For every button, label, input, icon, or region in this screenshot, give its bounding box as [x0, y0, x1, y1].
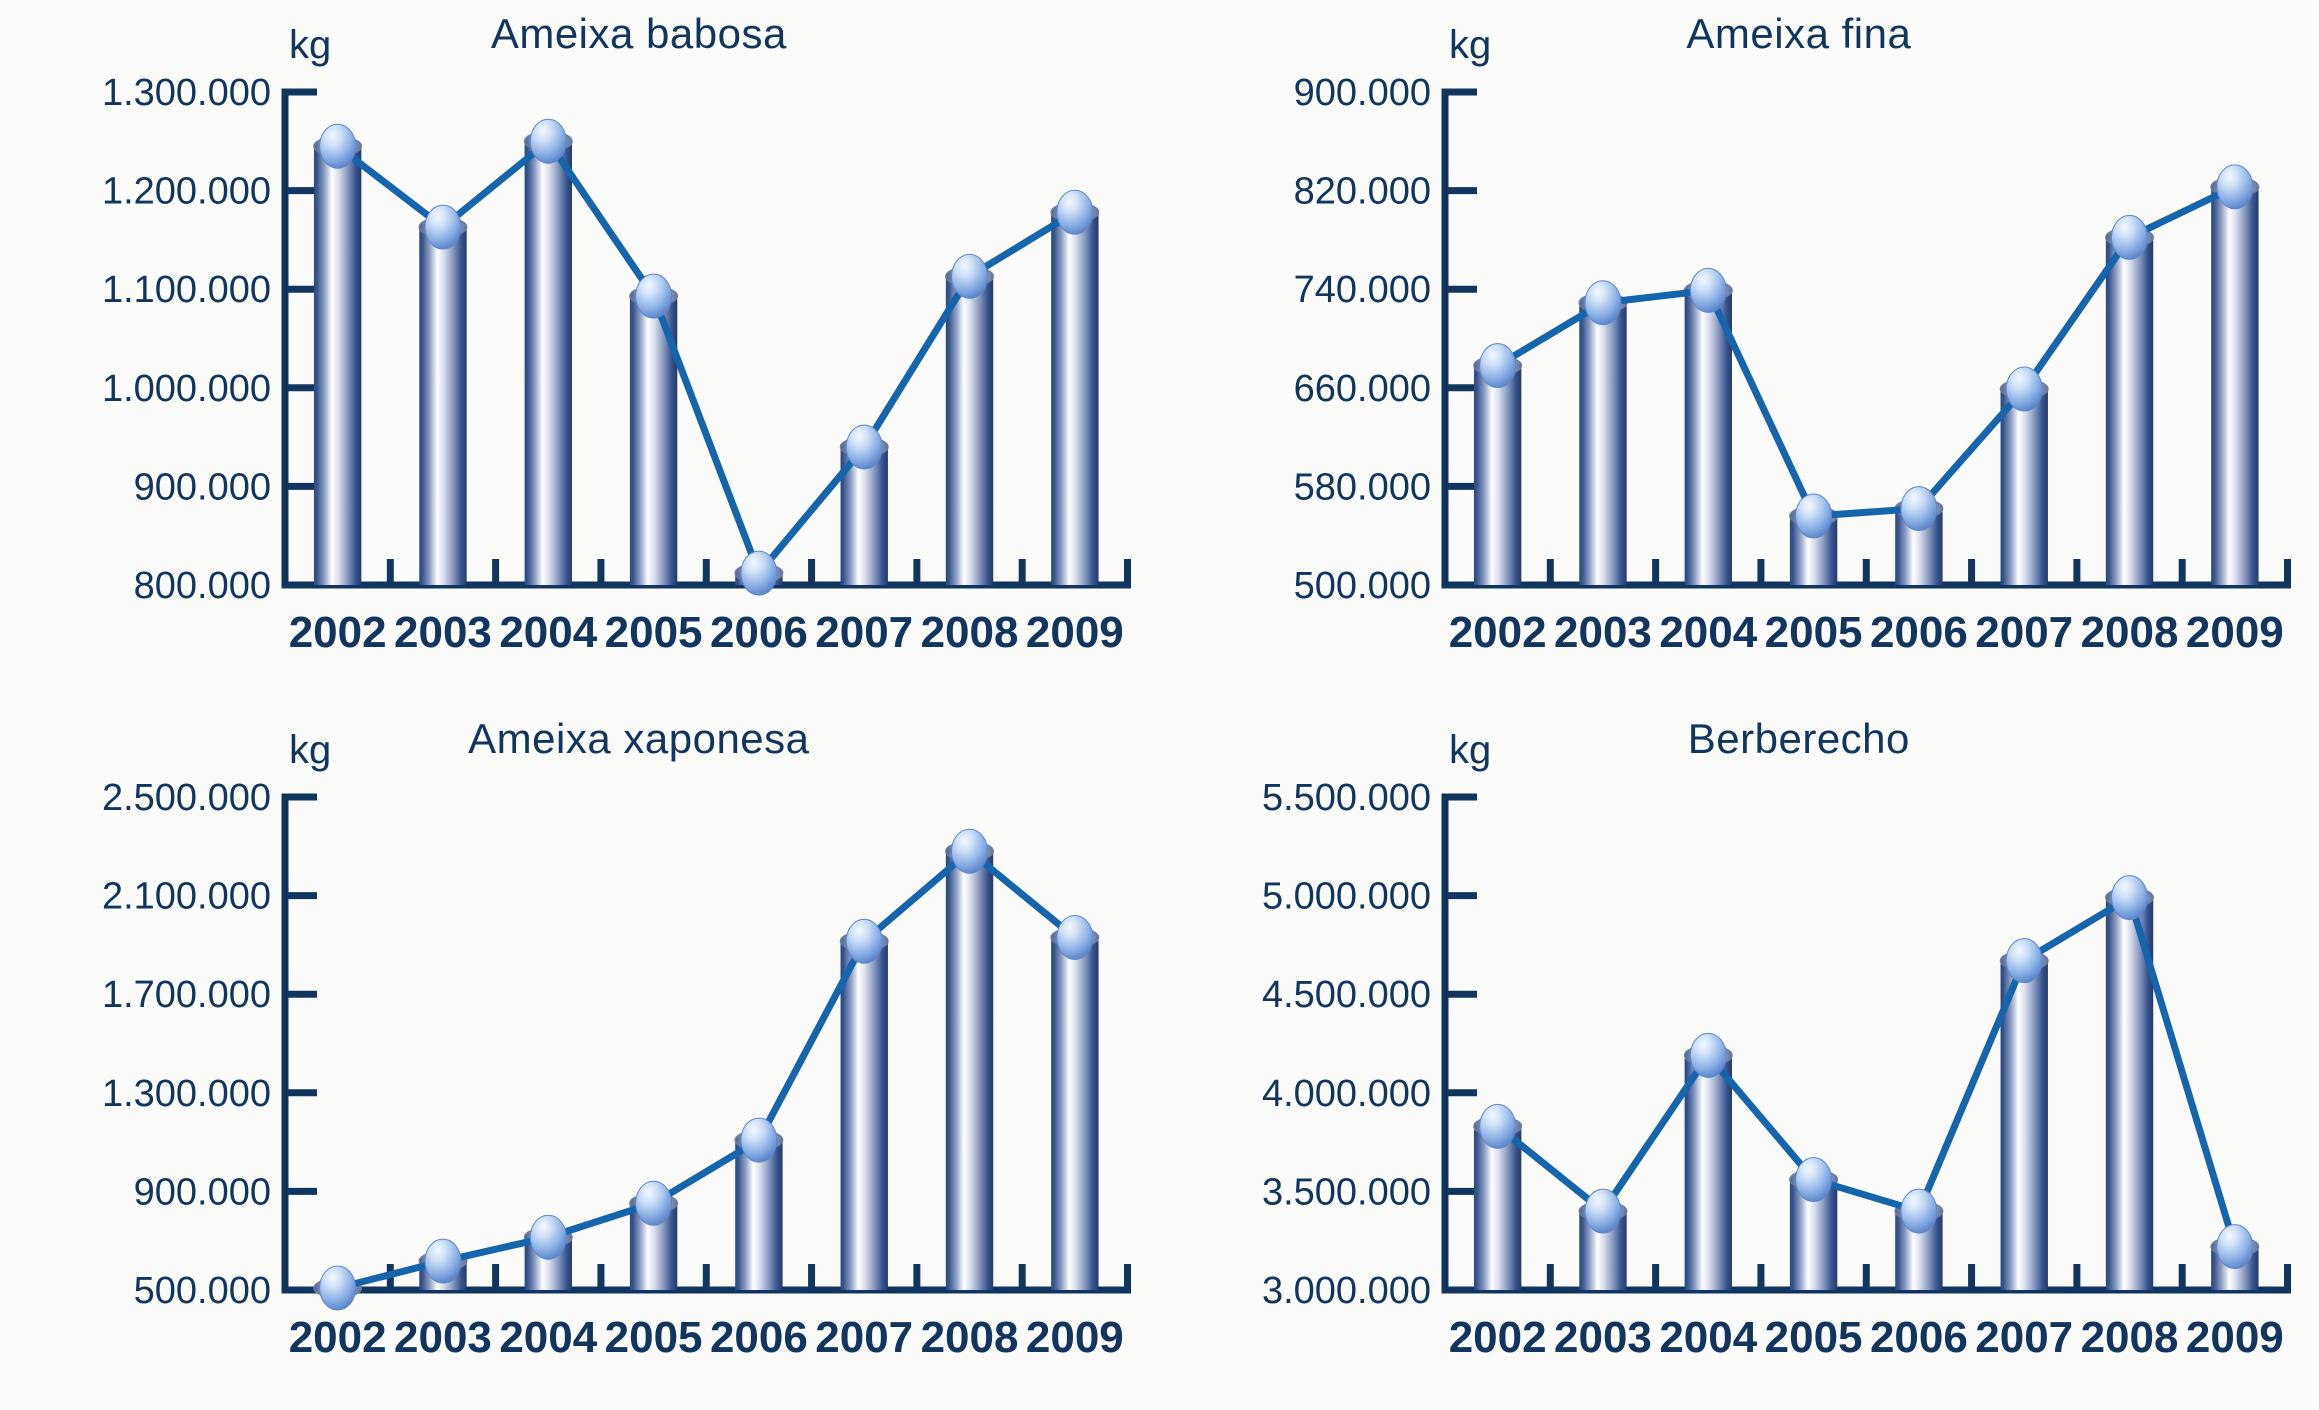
bar-cylinder [525, 132, 572, 585]
y-tick-label: 580.000 [1293, 466, 1430, 508]
bar-cylinder [2211, 177, 2258, 585]
x-tick-label: 2007 [815, 1313, 913, 1362]
chart-canvas-ameixa-babosa: Ameixa babosakg1.300.0001.200.0001.100.0… [0, 0, 1160, 705]
data-point-marker [1795, 1158, 1831, 1202]
data-point-marker [1584, 281, 1620, 325]
data-point-marker [741, 551, 777, 595]
bar-cylinder [1473, 356, 1520, 585]
x-tick-label: 2005 [1764, 608, 1862, 657]
y-tick-label: 800.000 [134, 565, 271, 607]
bar-cylinder [1051, 203, 1098, 585]
x-tick-label: 2006 [710, 608, 808, 657]
y-tick-label: 900.000 [134, 466, 271, 508]
data-point-marker [952, 829, 988, 873]
data-point-marker [1900, 1189, 1936, 1233]
bar-cylinder [419, 218, 466, 585]
y-tick-label: 5.000.000 [1261, 876, 1430, 918]
y-tick-label: 1.300.000 [102, 72, 271, 114]
x-tick-label: 2005 [605, 1313, 703, 1362]
chart-axes [285, 92, 1128, 585]
y-tick-label: 500.000 [134, 1270, 271, 1312]
y-axis-ticks: 900.000820.000740.000660.000580.000500.0… [1293, 72, 1476, 607]
bar-series [314, 842, 1099, 1298]
y-tick-label: 2.100.000 [102, 876, 271, 918]
x-tick-label: 2007 [815, 608, 913, 657]
data-point-marker [1057, 190, 1093, 234]
x-tick-label: 2006 [1869, 1313, 1967, 1362]
data-point-marker [425, 1239, 461, 1283]
x-tick-label: 2002 [289, 608, 387, 657]
y-tick-label: 3.500.000 [1261, 1171, 1430, 1213]
x-axis-ticks [1445, 1264, 2288, 1290]
y-tick-label: 2.500.000 [102, 777, 271, 819]
chart-panel-berberecho: Berberechokg5.500.0005.000.0004.500.0004… [1160, 705, 2319, 1410]
x-axis-labels: 20022003200420052006200720082009 [289, 1313, 1124, 1362]
data-point-marker [2111, 876, 2147, 920]
data-point-marker [530, 119, 566, 163]
x-axis-ticks [285, 559, 1128, 585]
data-point-marker [530, 1215, 566, 1259]
x-tick-label: 2006 [1869, 608, 1967, 657]
x-tick-label: 2006 [710, 1313, 808, 1362]
chart-panel-ameixa-babosa: Ameixa babosakg1.300.0001.200.0001.100.0… [0, 0, 1160, 705]
x-tick-label: 2009 [2185, 1313, 2283, 1362]
data-point-marker [1690, 268, 1726, 312]
y-tick-label: 5.500.000 [1261, 777, 1430, 819]
x-tick-label: 2007 [1975, 1313, 2073, 1362]
bar-cylinder [1579, 293, 1626, 585]
x-tick-label: 2004 [1659, 1313, 1757, 1362]
y-axis-unit-label: kg [289, 728, 331, 772]
data-point-marker [2006, 367, 2042, 411]
y-axis-unit-label: kg [289, 23, 331, 67]
y-tick-label: 4.500.000 [1261, 974, 1430, 1016]
chart-title: Ameixa fina [1686, 10, 1911, 57]
data-point-marker [846, 919, 882, 963]
data-point-marker [1479, 1104, 1515, 1148]
x-axis-labels: 20022003200420052006200720082009 [289, 608, 1124, 657]
chart-title: Ameixa xaponesa [468, 715, 810, 762]
data-point-marker [2111, 215, 2147, 259]
chart-canvas-berberecho: Berberechokg5.500.0005.000.0004.500.0004… [1160, 705, 2319, 1410]
bar-series [1473, 888, 2258, 1290]
y-tick-label: 740.000 [1293, 269, 1430, 311]
y-tick-label: 900.000 [134, 1171, 271, 1213]
x-tick-label: 2009 [1026, 608, 1124, 657]
data-point-marker [320, 1266, 356, 1310]
y-tick-label: 820.000 [1293, 171, 1430, 213]
x-axis-labels: 20022003200420052006200720082009 [1448, 608, 2283, 657]
x-tick-label: 2003 [394, 608, 492, 657]
x-tick-label: 2002 [1448, 608, 1546, 657]
chart-panel-ameixa-fina: Ameixa finakg900.000820.000740.000660.00… [1160, 0, 2319, 705]
y-tick-label: 1.200.000 [102, 171, 271, 213]
bar-cylinder [314, 137, 361, 585]
data-point-marker [2006, 939, 2042, 983]
data-point-marker [425, 205, 461, 249]
x-axis-ticks [1445, 559, 2288, 585]
x-axis-labels: 20022003200420052006200720082009 [1448, 1313, 2283, 1362]
x-tick-label: 2004 [1659, 608, 1757, 657]
x-tick-label: 2007 [1975, 608, 2073, 657]
data-point-marker [1584, 1189, 1620, 1233]
y-tick-label: 1.700.000 [102, 974, 271, 1016]
data-point-marker [741, 1118, 777, 1162]
chart-axes [1445, 797, 2288, 1290]
y-tick-label: 660.000 [1293, 368, 1430, 410]
chart-title: Berberecho [1687, 715, 1909, 762]
bar-cylinder [946, 267, 993, 585]
x-tick-label: 2008 [921, 608, 1019, 657]
data-point-marker [952, 254, 988, 298]
data-point-marker [320, 124, 356, 168]
charts-grid: Ameixa babosakg1.300.0001.200.0001.100.0… [0, 0, 2319, 1410]
x-tick-label: 2003 [394, 1313, 492, 1362]
data-point-marker [636, 274, 672, 318]
x-tick-label: 2004 [499, 1313, 597, 1362]
x-tick-label: 2002 [1448, 1313, 1546, 1362]
y-tick-label: 1.000.000 [102, 368, 271, 410]
bar-cylinder [1051, 928, 1098, 1290]
y-tick-label: 4.000.000 [1261, 1073, 1430, 1115]
data-point-marker [1795, 494, 1831, 538]
data-point-marker [1057, 916, 1093, 960]
y-axis-unit-label: kg [1449, 728, 1491, 772]
x-tick-label: 2008 [2080, 1313, 2178, 1362]
bar-cylinder [841, 932, 888, 1290]
data-point-marker [1690, 1033, 1726, 1077]
chart-canvas-ameixa-fina: Ameixa finakg900.000820.000740.000660.00… [1160, 0, 2319, 705]
bar-cylinder [2105, 228, 2152, 585]
y-tick-label: 1.300.000 [102, 1073, 271, 1115]
data-point-marker [1479, 344, 1515, 388]
y-tick-label: 1.100.000 [102, 269, 271, 311]
y-tick-label: 900.000 [1293, 72, 1430, 114]
y-axis-unit-label: kg [1449, 23, 1491, 67]
x-tick-label: 2005 [605, 608, 703, 657]
data-point-marker [2216, 1225, 2252, 1269]
x-tick-label: 2009 [2185, 608, 2283, 657]
y-tick-label: 500.000 [1293, 565, 1430, 607]
y-tick-label: 3.000.000 [1261, 1270, 1430, 1312]
bar-cylinder [946, 842, 993, 1290]
data-point-marker [2216, 165, 2252, 209]
chart-panel-ameixa-xaponesa: Ameixa xaponesakg2.500.0002.100.0001.700… [0, 705, 1160, 1410]
x-tick-label: 2009 [1026, 1313, 1124, 1362]
x-tick-label: 2003 [1554, 608, 1652, 657]
data-point-marker [846, 425, 882, 469]
bar-series [314, 132, 1099, 585]
chart-axes [285, 797, 1128, 1290]
data-point-marker [1900, 487, 1936, 531]
x-tick-label: 2004 [499, 608, 597, 657]
x-tick-label: 2002 [289, 1313, 387, 1362]
x-tick-label: 2003 [1554, 1313, 1652, 1362]
chart-title: Ameixa babosa [491, 10, 787, 57]
chart-canvas-ameixa-xaponesa: Ameixa xaponesakg2.500.0002.100.0001.700… [0, 705, 1160, 1410]
data-point-marker [636, 1181, 672, 1225]
x-tick-label: 2005 [1764, 1313, 1862, 1362]
x-tick-label: 2008 [921, 1313, 1019, 1362]
x-tick-label: 2008 [2080, 608, 2178, 657]
